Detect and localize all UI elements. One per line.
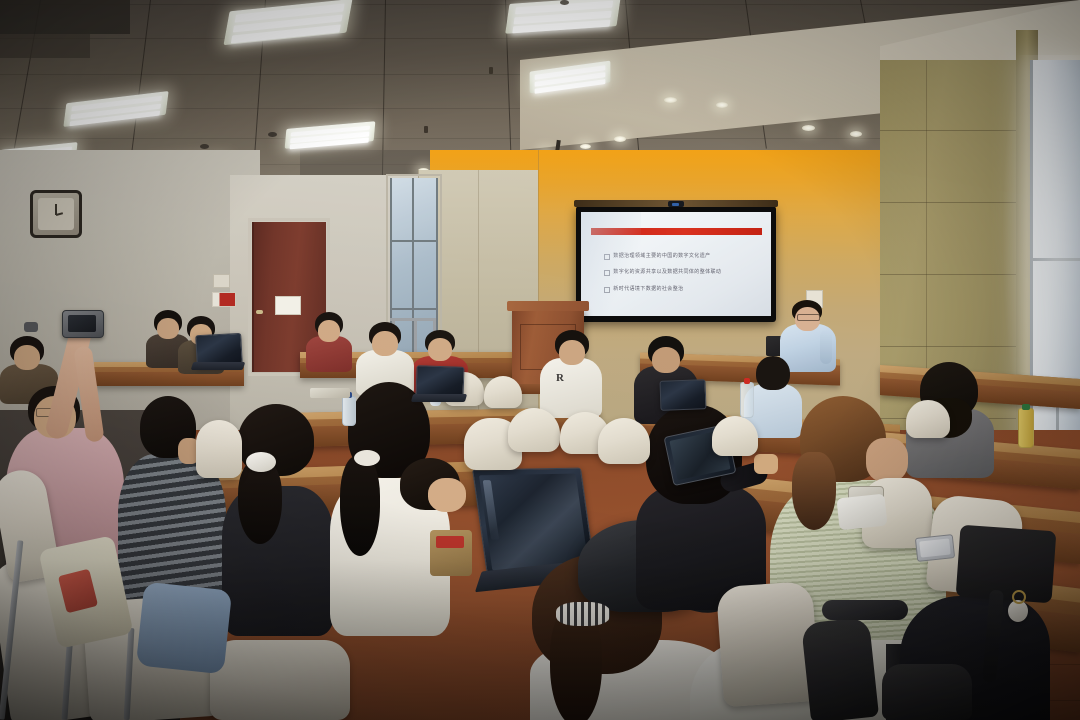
torso: [540, 358, 602, 418]
strap-logo: [436, 536, 464, 548]
bottle-icon[interactable]: [740, 382, 754, 418]
slide-bullet-text: 数字化的资源共享以及数据共同体的整体联动: [613, 268, 721, 275]
head: [318, 320, 340, 342]
ceiling-vent: [0, 34, 90, 58]
hair: [756, 356, 790, 390]
ceiling-downlight: [614, 136, 626, 142]
laptop-keyboard[interactable]: [191, 362, 246, 370]
slide-bullet-text: 新时代语境下数据的社会整治: [613, 285, 683, 292]
phone-icon[interactable]: [915, 534, 955, 562]
camera-icon: [668, 201, 684, 207]
hair-scrunchie: [246, 452, 276, 472]
sprinkler-head-icon: [424, 126, 428, 133]
neck: [428, 478, 466, 512]
slide-bullet-marker: [604, 254, 610, 260]
laptop-icon[interactable]: [659, 379, 706, 411]
glasses-icon: [797, 314, 820, 321]
hair-tie: [354, 450, 380, 466]
chair[interactable]: [712, 416, 758, 456]
smartphone-held[interactable]: [62, 310, 104, 338]
ceiling-downlight: [850, 131, 862, 137]
bag-icon[interactable]: [956, 525, 1057, 604]
ceiling-vent: [0, 0, 130, 34]
head: [559, 340, 585, 365]
chair-armrest: [822, 600, 908, 620]
chair[interactable]: [906, 400, 950, 438]
presenter-arm: [820, 330, 832, 364]
chair[interactable]: [508, 408, 560, 452]
ponytail: [238, 460, 282, 544]
wall-clock: [30, 190, 82, 238]
slide-bullet-marker: [604, 270, 610, 276]
phone-screen: [919, 538, 951, 557]
wall-sign: [212, 292, 236, 307]
notebook[interactable]: [310, 388, 350, 398]
door-handle[interactable]: [256, 310, 263, 314]
ponytail: [340, 456, 380, 556]
ceiling-downlight: [716, 102, 728, 108]
slide-content: 数据治理领域主要的中国的数字文化遗产 数字化的资源共享以及数据共同体的整体联动 …: [581, 212, 771, 316]
tissue-icon[interactable]: [836, 494, 887, 531]
jacket-draped: [136, 582, 232, 675]
person-back-row: [306, 312, 352, 368]
door-notice-sign: [275, 296, 301, 315]
slide-accent-rule: [591, 228, 762, 235]
bottle-icon[interactable]: [342, 396, 356, 426]
beaded-hair-tie: [556, 602, 610, 626]
head: [652, 347, 680, 373]
face: [866, 438, 908, 482]
sprinkler-head-icon: [489, 67, 493, 74]
lectern-top: [507, 301, 589, 311]
ceiling-downlight: [802, 125, 815, 131]
slide-bullet-text: 数据治理领域主要的中国的数字文化遗产: [613, 252, 710, 259]
ceiling-downlight: [580, 144, 591, 149]
smoke-detector-icon: [560, 0, 569, 5]
chair[interactable]: [598, 418, 650, 464]
shirt-letter: R: [556, 372, 566, 386]
head: [428, 338, 452, 361]
bottle-icon[interactable]: [1018, 408, 1034, 448]
phone-secondary: [24, 322, 38, 332]
smoke-detector-icon: [268, 132, 277, 137]
wall-switch-plate[interactable]: [213, 274, 230, 288]
slide-bullet-marker: [604, 287, 610, 293]
ceiling-downlight: [664, 97, 677, 103]
chair[interactable]: [196, 420, 242, 478]
photo-scene: 数据治理领域主要的中国的数字文化遗产 数字化的资源共享以及数据共同体的整体联动 …: [0, 0, 1080, 720]
ponytail: [792, 452, 836, 530]
bag-ring: [1012, 590, 1026, 604]
smoke-detector-icon: [200, 144, 209, 149]
head: [157, 318, 179, 339]
window-railing: [390, 318, 436, 321]
chair[interactable]: [484, 376, 522, 408]
chair-dark[interactable]: [801, 617, 879, 720]
person-letter-r: R: [540, 330, 602, 416]
head: [372, 331, 398, 356]
phone-screen: [68, 315, 96, 332]
presentation-display[interactable]: 数据治理领域主要的中国的数字文化遗产 数字化的资源共享以及数据共同体的整体联动 …: [576, 206, 776, 322]
laptop-keyboard[interactable]: [411, 394, 467, 402]
